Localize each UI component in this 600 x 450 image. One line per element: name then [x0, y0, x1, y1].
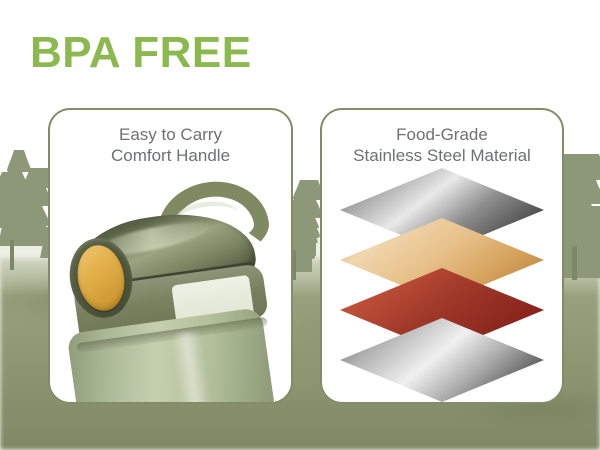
card-title-line-1: Food-Grade	[320, 124, 564, 145]
card-title-line-2: Stainless Steel Material	[320, 145, 564, 166]
card-title-comfort-handle: Easy to Carry Comfort Handle	[50, 124, 291, 166]
card-title-line-2: Comfort Handle	[50, 145, 291, 166]
card-title-stainless-steel: Food-Grade Stainless Steel Material	[320, 124, 564, 166]
water-bottle-graphic	[58, 180, 288, 402]
feature-card-stainless-steel[interactable]: Food-Grade Stainless Steel Material	[320, 108, 564, 404]
infographic-canvas: BPA FREE Easy to Carry Comfort Handle	[0, 0, 600, 450]
layer-plate-steel-bottom	[340, 318, 544, 402]
page-title: BPA FREE	[30, 28, 252, 78]
card-title-line-1: Easy to Carry	[50, 124, 291, 145]
feature-card-comfort-handle[interactable]: Easy to Carry Comfort Handle	[48, 108, 293, 404]
